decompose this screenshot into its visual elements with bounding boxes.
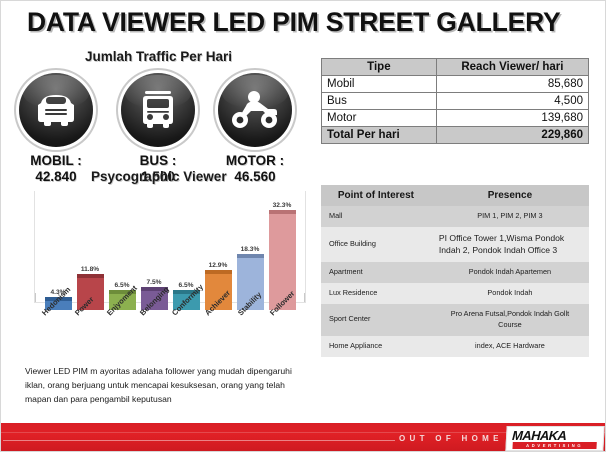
bar-value-label: 7.5% xyxy=(146,279,161,286)
chart-x-axis-labels: HedonismPowerEnjyomentBelongingConformit… xyxy=(34,309,310,357)
table-row: Sport Center Pro Arena Futsal,Pondok Ind… xyxy=(321,304,589,336)
cell-reach: 139,680 xyxy=(436,110,588,127)
page-title: DATA VIEWER LED PIM STREET GALLERY xyxy=(27,7,561,38)
col-header-reach: Reach Viewer/ hari xyxy=(436,59,588,76)
bar-value-label: 12.9% xyxy=(209,262,228,269)
bar-cap xyxy=(205,270,232,274)
chart-bars: 4.3%11.8%6.5%7.5%6.5%12.9%18.3%32.3% xyxy=(34,202,306,310)
cell-poi: Lux Residence xyxy=(321,283,431,304)
cell-poi: Apartment xyxy=(321,262,431,283)
logo-subtitle: ADVERTISING xyxy=(512,442,596,449)
cell-poi: Sport Center xyxy=(321,304,431,336)
reach-viewer-table: Tipe Reach Viewer/ hari Mobil 85,680 Bus… xyxy=(321,58,589,144)
bar-cap xyxy=(269,210,296,214)
traffic-label: BUS : xyxy=(119,153,197,169)
cell-reach: 85,680 xyxy=(436,76,588,93)
traffic-heading: Jumlah Traffic Per Hari xyxy=(85,49,232,64)
bar-cap xyxy=(237,254,264,258)
bar-value-label: 11.8% xyxy=(81,266,99,273)
traffic-value: 46.560 xyxy=(216,169,294,185)
cell-total-value: 229,860 xyxy=(436,127,588,144)
table-row: Lux Residence Pondok Indah xyxy=(321,283,589,304)
cell-presence: Pondok Indah Apartemen xyxy=(431,262,589,283)
slide: DATA VIEWER LED PIM STREET GALLERY Jumla… xyxy=(0,0,606,452)
cell-type: Mobil xyxy=(322,76,437,93)
bar-value-label: 32.3% xyxy=(273,202,292,209)
car-icon xyxy=(19,73,93,147)
col-header-presence: Presence xyxy=(431,185,589,206)
table-row: Bus 4,500 xyxy=(322,93,589,110)
table-header-row: Tipe Reach Viewer/ hari xyxy=(322,59,589,76)
col-header-tipe: Tipe xyxy=(322,59,437,76)
bus-icon xyxy=(121,73,195,147)
cell-poi: Office Building xyxy=(321,227,431,262)
bar-value-label: 18.3% xyxy=(241,246,260,253)
cell-type: Motor xyxy=(322,110,437,127)
table-row: Motor 139,680 xyxy=(322,110,589,127)
cell-presence: index, ACE Hardware xyxy=(431,336,589,357)
traffic-item-motor: MOTOR : 46.560 xyxy=(216,73,294,184)
cell-poi: Mall xyxy=(321,206,431,227)
cell-presence: Pro Arena Futsal,Pondok Indah Gollt Cour… xyxy=(431,304,589,336)
description-text: Viewer LED PIM m ayoritas adalaha follow… xyxy=(25,365,305,407)
traffic-value: 42.840 xyxy=(17,169,95,185)
cell-type: Bus xyxy=(322,93,437,110)
mahaka-logo: MAHAKA ADVERTISING xyxy=(505,426,604,451)
cell-poi: Home Appliance xyxy=(321,336,431,357)
cell-reach: 4,500 xyxy=(436,93,588,110)
table-total-row: Total Per hari 229,860 xyxy=(322,127,589,144)
table-row: Mobil 85,680 xyxy=(322,76,589,93)
traffic-item-bus: BUS : 1.500 xyxy=(119,73,197,184)
col-header-poi: Point of Interest xyxy=(321,185,431,206)
table-row: Home Appliance index, ACE Hardware xyxy=(321,336,589,357)
logo-name: MAHAKA xyxy=(512,428,567,443)
footer-bar: OUT OF HOME MEDIA MAHAKA ADVERTISING xyxy=(1,423,606,451)
cell-presence: PIM 1, PIM 2, PIM 3 xyxy=(431,206,589,227)
footer-rule xyxy=(3,440,395,441)
traffic-label: MOTOR : xyxy=(216,153,294,169)
table-header-row: Point of Interest Presence xyxy=(321,185,589,206)
traffic-icons: MOBIL : 42.840 BUS : 1.500 xyxy=(9,73,309,173)
point-of-interest-table: Point of Interest Presence Mall PIM 1, P… xyxy=(321,185,589,357)
chart-title: Psycographic Viewer xyxy=(91,169,227,184)
bar-cap xyxy=(77,274,104,278)
table-row: Office Building PI Office Tower 1,Wisma … xyxy=(321,227,589,262)
table-row: Mall PIM 1, PIM 2, PIM 3 xyxy=(321,206,589,227)
table-row: Apartment Pondok Indah Apartemen xyxy=(321,262,589,283)
psycographic-chart: 4.3%11.8%6.5%7.5%6.5%12.9%18.3%32.3% xyxy=(34,187,306,311)
traffic-item-mobil: MOBIL : 42.840 xyxy=(17,73,95,184)
cell-presence: PI Office Tower 1,Wisma Pondok Indah 2, … xyxy=(431,227,589,262)
motorcycle-icon xyxy=(218,73,292,147)
cell-total-label: Total Per hari xyxy=(322,127,437,144)
cell-presence: Pondok Indah xyxy=(431,283,589,304)
bar-column: 11.8% xyxy=(76,202,104,310)
traffic-label: MOBIL : xyxy=(17,153,95,169)
